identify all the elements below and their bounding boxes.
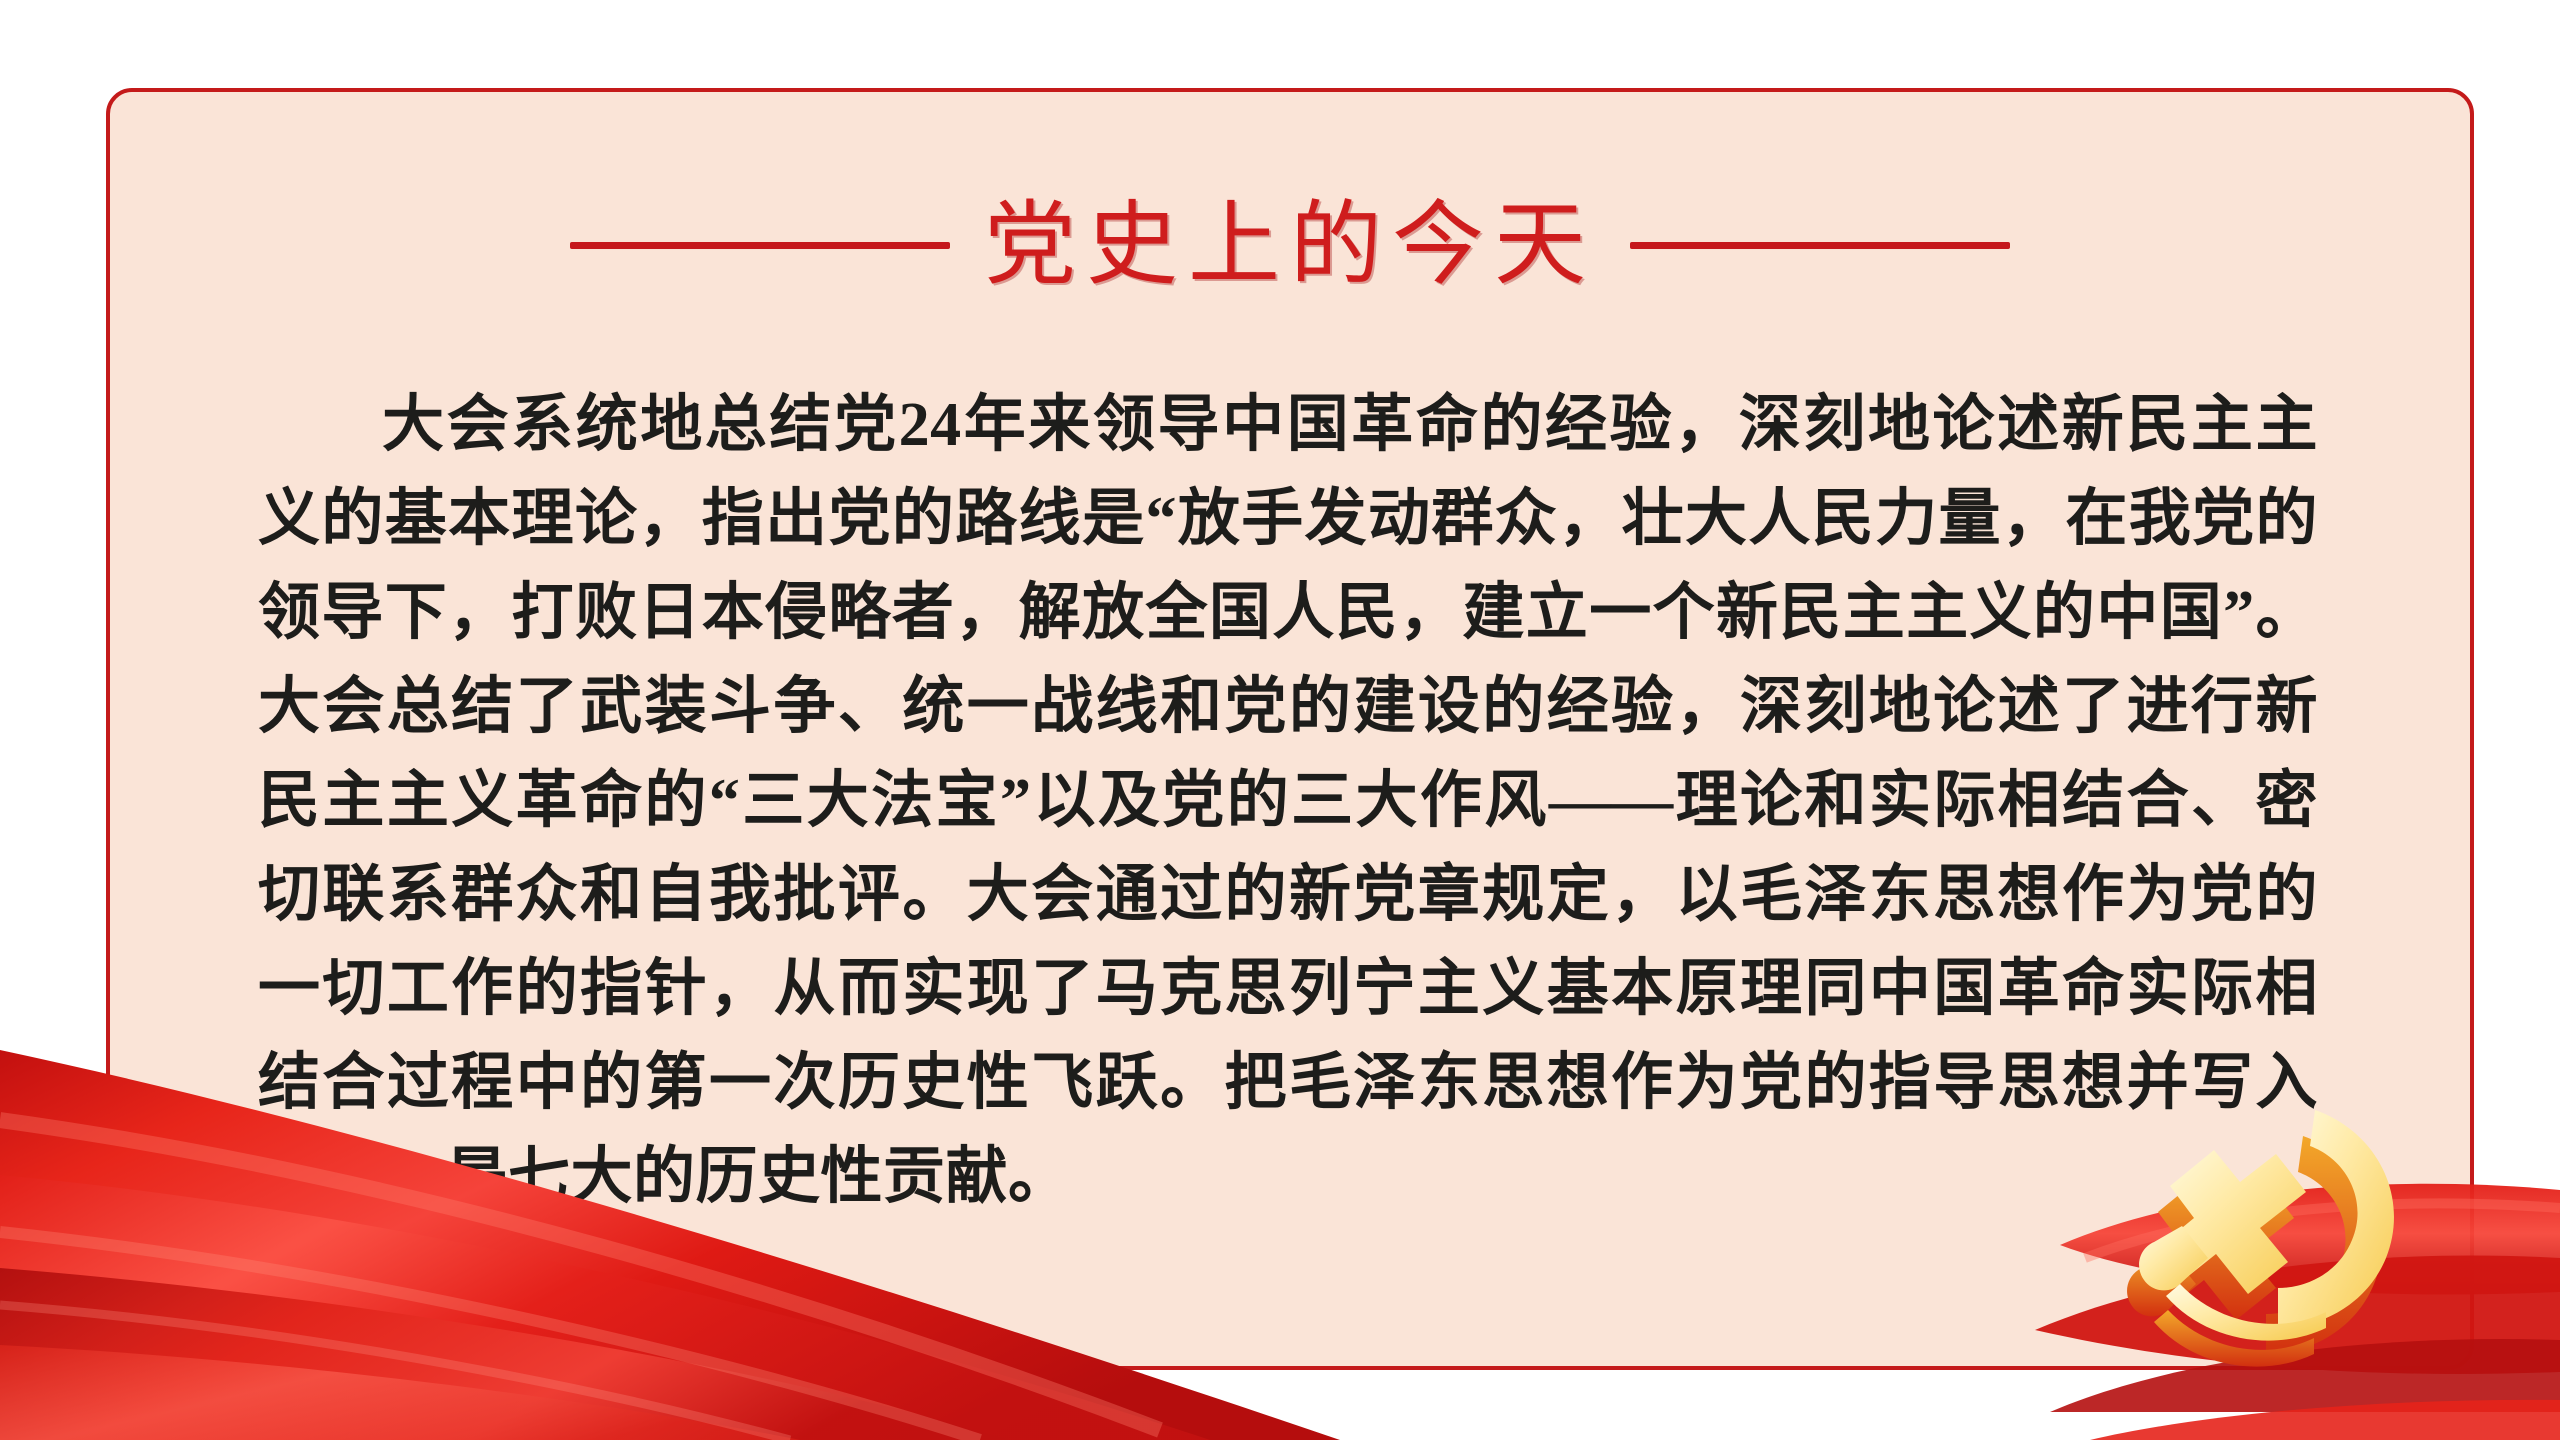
body-paragraph: 大会系统地总结党24年来领导中国革命的经验，深刻地论述新民主主义的基本理论，指出… bbox=[258, 378, 2318, 1224]
body-container: 大会系统地总结党24年来领导中国革命的经验，深刻地论述新民主主义的基本理论，指出… bbox=[258, 378, 2318, 1138]
slide-canvas: 党史上的今天 大会系统地总结党24年来领导中国革命的经验，深刻地论述新民主主义的… bbox=[0, 0, 2560, 1440]
